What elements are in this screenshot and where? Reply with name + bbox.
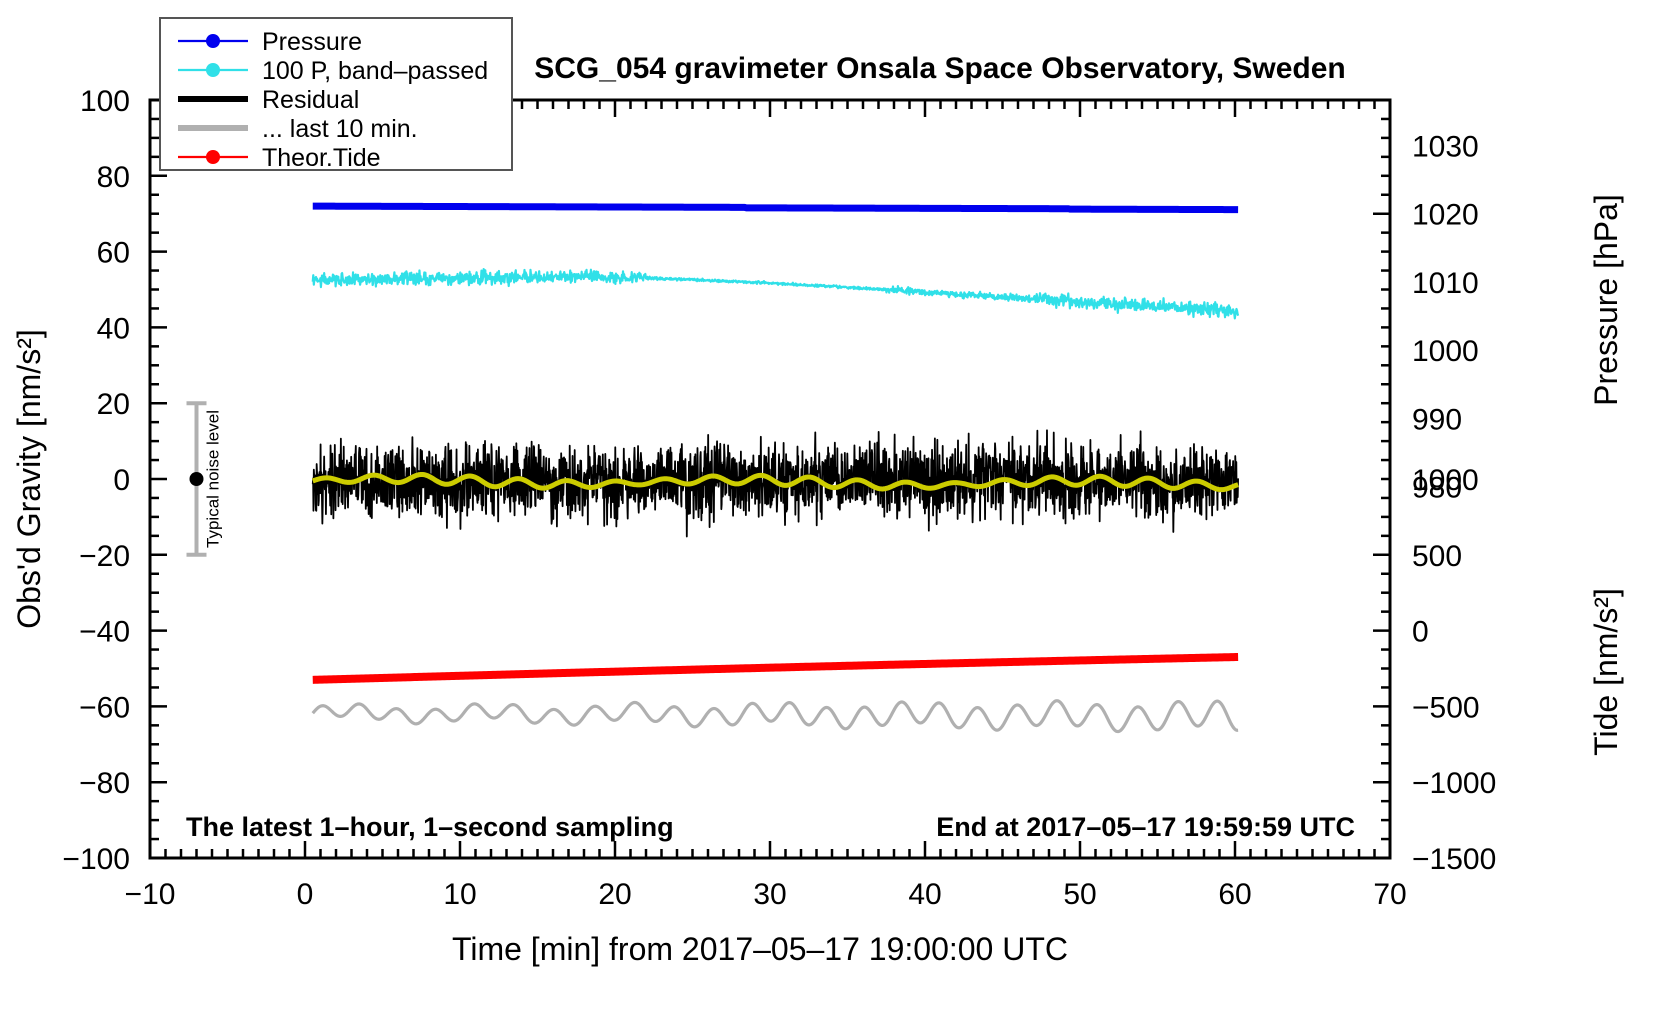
tide-tick-label: −1000 [1412,767,1496,800]
tide-tick-label: −1500 [1412,843,1496,876]
y-axis-ticks-left [150,100,167,858]
y-axis-pressure-title: Pressure [hPa] [1588,194,1624,406]
x-tick-label: −10 [125,878,176,911]
noise-level-label: Typical noise level [204,410,223,548]
trace-last-10-min [313,701,1238,732]
pressure-tick-labels: 1030102010101000990980 [1412,130,1479,504]
tide-tick-label: 500 [1412,540,1462,573]
pressure-tick-label: 1020 [1412,199,1479,232]
trace-bandpassed [313,269,1238,318]
y-axis-tide-title: Tide [nm/s²] [1588,588,1624,756]
x-tick-label: 40 [908,878,941,911]
tide-tick-label: 1000 [1412,464,1479,497]
y-tick-label: 60 [97,237,130,270]
chart-title: SCG_054 gravimeter Onsala Space Observat… [534,52,1346,85]
x-tick-label: 10 [443,878,476,911]
pressure-tick-label: 1030 [1412,130,1479,163]
y-axis-left-title: Obs'd Gravity [nm/s²] [11,329,47,629]
y-tick-label: 0 [113,464,130,497]
y-axis-tick-labels: 100806040200−20−40−60−80−100 [62,85,130,876]
legend-label: Theor.Tide [262,144,381,172]
tide-tick-labels: 10005000−500−1000−1500 [1412,464,1496,876]
x-tick-label: 0 [297,878,314,911]
legend-label: 100 P, band–passed [262,57,488,85]
legend-marker [206,150,220,164]
pressure-tick-label: 990 [1412,403,1462,436]
tide-tick-label: 0 [1412,616,1429,649]
trace-theoretical-tide [313,657,1238,680]
y-tick-label: 20 [97,388,130,421]
y-axis-ticks-pressure [1373,100,1390,858]
y-tick-label: 100 [80,85,130,118]
legend-marker [206,63,220,77]
y-tick-label: −80 [79,767,130,800]
tide-tick-label: −500 [1412,691,1480,724]
x-axis-tick-labels: −10010203040506070 [125,878,1407,911]
x-tick-label: 30 [753,878,786,911]
trace-pressure [313,206,1238,209]
legend-marker [206,34,220,48]
footer-right-note: End at 2017–05–17 19:59:59 UTC [936,812,1355,842]
y-tick-label: −20 [79,540,130,573]
y-tick-label: −40 [79,616,130,649]
x-tick-label: 20 [598,878,631,911]
y-tick-label: 40 [97,312,130,345]
x-tick-label: 60 [1218,878,1251,911]
footer-left-note: The latest 1–hour, 1–second sampling [186,812,674,842]
pressure-tick-label: 1010 [1412,267,1479,300]
y-tick-label: 80 [97,161,130,194]
gravimeter-plot: −10010203040506070 100806040200−20−40−60… [0,0,1660,1020]
y-tick-label: −100 [62,843,130,876]
y-tick-label: −60 [79,691,130,724]
chart-canvas: −10010203040506070 100806040200−20−40−60… [0,0,1660,1020]
data-traces [313,206,1238,731]
x-axis-title: Time [min] from 2017–05–17 19:00:00 UTC [452,931,1068,967]
typical-noise-level-indicator: Typical noise level [187,403,223,555]
x-tick-label: 50 [1063,878,1096,911]
legend-label: Pressure [262,28,362,56]
legend-label: ... last 10 min. [262,115,418,143]
legend-label: Residual [262,86,359,114]
legend: Pressure100 P, band–passedResidual... la… [160,18,512,172]
pressure-tick-label: 1000 [1412,335,1479,368]
x-tick-label: 70 [1373,878,1406,911]
